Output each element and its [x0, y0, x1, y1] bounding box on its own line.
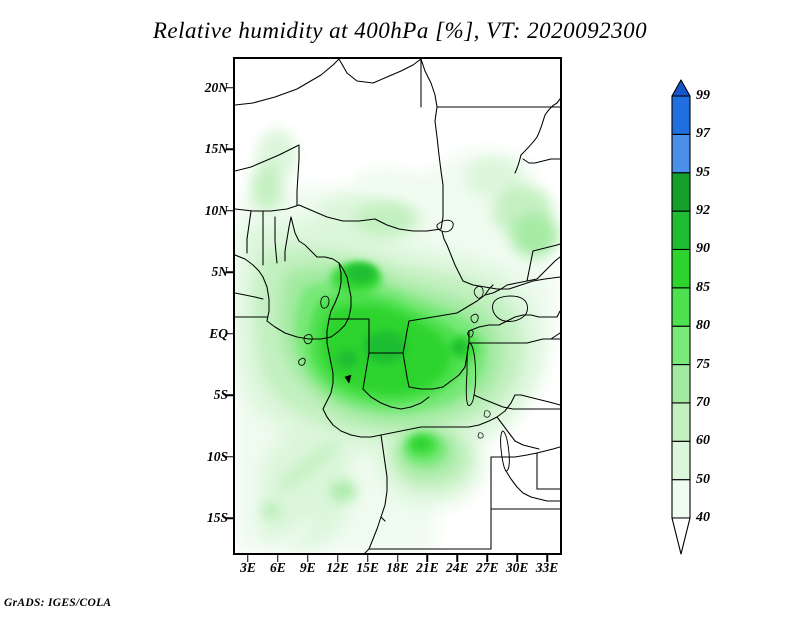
colorbar-band-1: [672, 441, 690, 479]
lat-tick-mark-5S: [226, 394, 233, 396]
lon-tick-mark-21E: [427, 555, 429, 562]
attribution-footer: GrADS: IGES/COLA: [4, 597, 111, 609]
lat-tick-label-10S: 10S: [0, 449, 240, 465]
lon-tick-label-21E: 21E: [416, 560, 439, 576]
colorbar-label-90: 90: [696, 241, 710, 257]
colorbar-band-5: [672, 288, 690, 326]
colorbar-label-50: 50: [696, 472, 710, 488]
lon-tick-label-24E: 24E: [446, 560, 469, 576]
lon-tick-label-3E: 3E: [240, 560, 256, 576]
colorbar-band-4: [672, 326, 690, 364]
lon-tick-label-18E: 18E: [386, 560, 409, 576]
lon-tick-mark-18E: [397, 555, 399, 562]
lat-tick-label-15S: 15S: [0, 510, 240, 526]
colorbar-extend-high-arrow: [672, 80, 690, 96]
lat-tick-mark-10N: [226, 210, 233, 212]
lon-tick-label-27E: 27E: [476, 560, 499, 576]
colorbar-band-9: [672, 134, 690, 172]
lat-tick-mark-20N: [226, 87, 233, 89]
lat-tick-label-5S: 5S: [0, 387, 240, 403]
colorbar-label-85: 85: [696, 280, 710, 296]
colorbar: [671, 78, 691, 556]
lon-tick-label-12E: 12E: [326, 560, 349, 576]
lon-tick-label-9E: 9E: [300, 560, 316, 576]
colorbar-band-7: [672, 211, 690, 249]
page-title: Relative humidity at 400hPa [%], VT: 202…: [0, 18, 800, 44]
lon-tick-mark-30E: [516, 555, 518, 562]
lon-tick-mark-6E: [277, 555, 279, 562]
colorbar-band-0: [672, 480, 690, 518]
lat-tick-mark-EQ: [226, 333, 233, 335]
lat-tick-mark-15S: [226, 517, 233, 519]
lon-tick-mark-27E: [486, 555, 488, 562]
colorbar-label-92: 92: [696, 203, 710, 219]
colorbar-label-80: 80: [696, 318, 710, 334]
map-canvas: [235, 59, 560, 553]
lat-tick-mark-15N: [226, 148, 233, 150]
lon-tick-mark-12E: [337, 555, 339, 562]
lat-tick-label-5N: 5N: [0, 264, 240, 280]
lon-tick-label-15E: 15E: [356, 560, 379, 576]
colorbar-label-97: 97: [696, 126, 710, 142]
lat-tick-label-15N: 15N: [0, 141, 240, 157]
lat-tick-mark-10S: [226, 456, 233, 458]
lat-tick-label-EQ: EQ: [0, 326, 240, 342]
lat-tick-label-10N: 10N: [0, 203, 240, 219]
colorbar-label-40: 40: [696, 510, 710, 526]
colorbar-band-8: [672, 173, 690, 211]
lon-tick-mark-15E: [367, 555, 369, 562]
lat-tick-label-20N: 20N: [0, 80, 240, 96]
colorbar-band-6: [672, 249, 690, 287]
lat-tick-mark-5N: [226, 271, 233, 273]
colorbar-label-75: 75: [696, 357, 710, 373]
colorbar-canvas: [671, 78, 691, 556]
colorbar-band-3: [672, 365, 690, 403]
colorbar-extend-low-arrow: [672, 518, 690, 554]
lon-tick-label-6E: 6E: [270, 560, 286, 576]
lon-tick-mark-33E: [546, 555, 548, 562]
lon-tick-mark-3E: [247, 555, 249, 562]
lon-tick-mark-24E: [457, 555, 459, 562]
colorbar-label-70: 70: [696, 395, 710, 411]
lon-tick-label-33E: 33E: [536, 560, 559, 576]
colorbar-label-95: 95: [696, 165, 710, 181]
lon-tick-mark-9E: [307, 555, 309, 562]
map-plot-area: [233, 57, 562, 555]
colorbar-band-10: [672, 96, 690, 134]
colorbar-label-99: 99: [696, 88, 710, 104]
lon-tick-label-30E: 30E: [506, 560, 529, 576]
colorbar-label-60: 60: [696, 433, 710, 449]
colorbar-band-2: [672, 403, 690, 441]
